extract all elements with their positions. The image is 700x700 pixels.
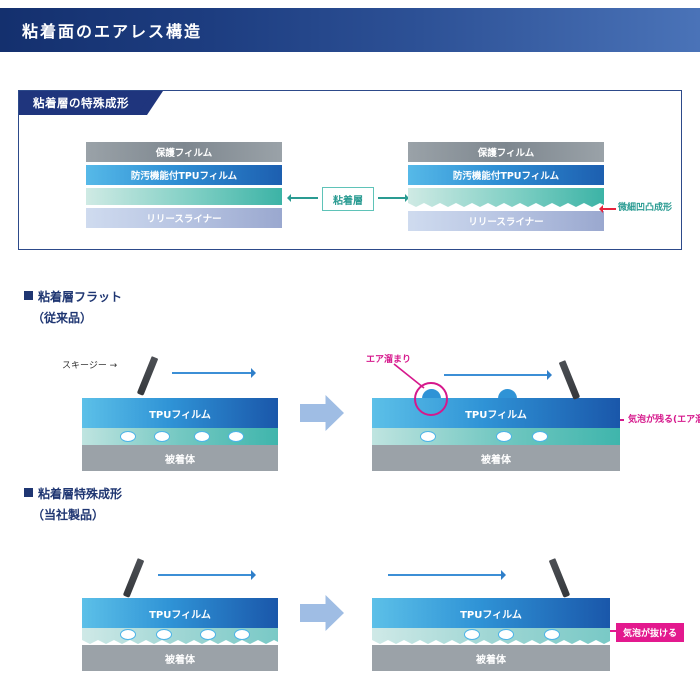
escaping-bubble-chip: 気泡が抜ける <box>616 623 684 642</box>
air-bubble <box>120 431 136 442</box>
diagram-textured-before: TPUフィルム 被着体 <box>82 552 278 625</box>
layer-adhesive <box>86 188 282 205</box>
diagram-flat-before: スキージー → TPUフィルム 被着体 <box>82 352 278 425</box>
adhesive-arrow-left-icon <box>288 197 318 199</box>
page-title: 粘着面のエアレス構造 <box>0 18 202 42</box>
substrate-band: 被着体 <box>82 445 278 471</box>
remaining-bubble-note: 気泡が残る(エア溜り) <box>628 412 700 425</box>
section2-heading-text: 粘着層特殊成形 <box>38 487 122 501</box>
film-stack: TPUフィルム 被着体 <box>372 598 610 671</box>
substrate-band: 被着体 <box>372 445 620 471</box>
process-block-arrow-icon <box>300 395 344 431</box>
tpu-film-band: TPUフィルム <box>82 398 278 428</box>
section2-heading: 粘着層特殊成形 <box>24 485 122 502</box>
squeegee-blade-icon <box>123 558 144 598</box>
film-stack: TPUフィルム 被着体 <box>82 598 278 671</box>
air-bubble <box>154 431 170 442</box>
film-stack: TPUフィルム 被着体 <box>82 398 278 471</box>
diagram-textured-after: TPUフィルム 被着体 <box>372 552 610 625</box>
air-bubble <box>420 431 436 442</box>
micro-texture-wave-icon <box>372 637 610 645</box>
adhesive-band-textured <box>372 628 610 645</box>
squeegee-blade-icon <box>137 356 158 396</box>
layer-release-liner: リリースライナー <box>86 208 282 228</box>
micro-texture-wave-icon <box>408 200 604 208</box>
substrate-band: 被着体 <box>82 645 278 671</box>
diagram-flat-after: エア溜まり TPUフィルム 被着体 <box>372 352 620 425</box>
adhesive-arrow-right-icon <box>378 197 408 199</box>
process-block-arrow-icon <box>300 595 344 631</box>
air-bubble <box>544 629 560 640</box>
micro-texture-arrow-icon <box>600 208 616 210</box>
page-header: 粘着面のエアレス構造 <box>0 8 700 52</box>
layer-stack-flat: 保護フィルム 防汚機能付TPUフィルム リリースライナー <box>86 142 282 231</box>
layer-tpu-film: 防汚機能付TPUフィルム <box>408 165 604 185</box>
adhesive-layer-callout: 粘着層 <box>322 187 374 211</box>
direction-arrow-icon <box>172 372 254 374</box>
air-bubble <box>498 629 514 640</box>
squeegee-blade-icon <box>559 360 580 400</box>
air-bubble <box>200 629 216 640</box>
section1-heading-text: 粘着層フラット <box>38 290 122 304</box>
layer-tpu-film: 防汚機能付TPUフィルム <box>86 165 282 185</box>
panel-tab-label: 粘着層の特殊成形 <box>19 91 155 115</box>
layer-release-liner: リリースライナー <box>408 211 604 231</box>
square-bullet-icon <box>24 488 33 497</box>
layer-protective-film: 保護フィルム <box>86 142 282 162</box>
adhesive-band <box>82 428 278 445</box>
air-bubble <box>464 629 480 640</box>
layer-stack-textured: 保護フィルム 防汚機能付TPUフィルム リリースライナー <box>408 142 604 234</box>
squeegee-label: スキージー → <box>62 358 117 371</box>
section1-heading: 粘着層フラット <box>24 288 122 305</box>
square-bullet-icon <box>24 291 33 300</box>
tpu-film-band: TPUフィルム <box>372 598 610 628</box>
substrate-band: 被着体 <box>372 645 610 671</box>
tpu-film-band: TPUフィルム <box>82 598 278 628</box>
layer-adhesive-textured <box>408 188 604 208</box>
micro-texture-label: 微細凹凸成形 <box>618 200 672 213</box>
micro-texture-wave-icon <box>82 637 278 645</box>
air-bubble <box>234 629 250 640</box>
air-bubble <box>228 431 244 442</box>
direction-arrow-icon <box>158 574 254 576</box>
section1-subheading: （従来品） <box>32 309 92 326</box>
air-bubble <box>532 431 548 442</box>
air-pocket-highlight-circle <box>414 382 448 416</box>
tpu-film-band: TPUフィルム <box>372 398 620 428</box>
section2-subheading: （当社製品） <box>32 506 104 523</box>
film-stack: TPUフィルム 被着体 <box>372 398 620 471</box>
squeegee-blade-icon <box>549 558 570 598</box>
air-bubble <box>496 431 512 442</box>
layer-protective-film: 保護フィルム <box>408 142 604 162</box>
air-bubble <box>194 431 210 442</box>
air-bubble <box>156 629 172 640</box>
direction-arrow-icon <box>444 374 550 376</box>
direction-arrow-icon <box>388 574 504 576</box>
air-bubble <box>120 629 136 640</box>
